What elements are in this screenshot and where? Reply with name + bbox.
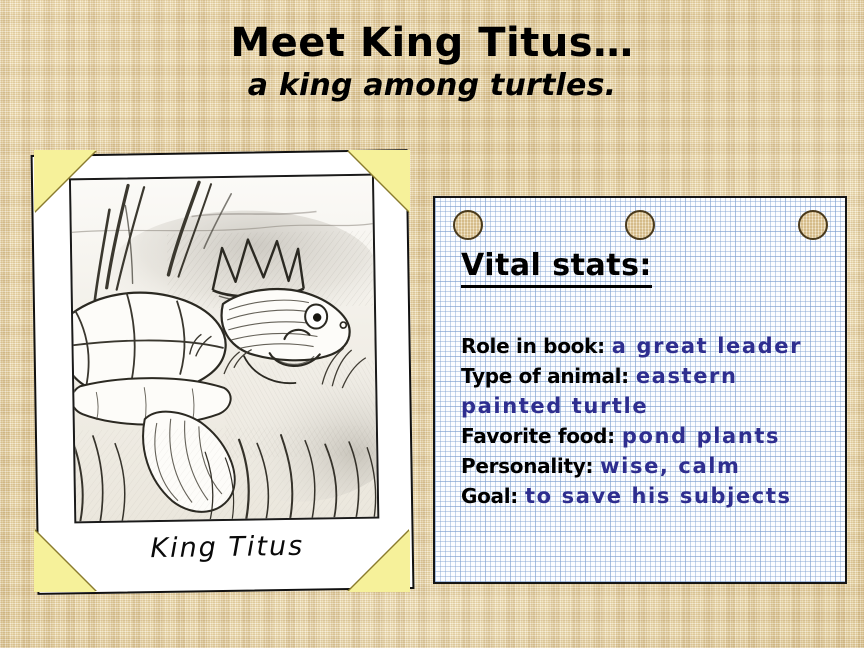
stat-value-goal: to save his subjects (525, 484, 792, 508)
stat-label-role: Role in book: (461, 334, 605, 358)
photo-corner-bottom-right (348, 530, 410, 592)
stat-row-goal: Goal:to save his subjects (461, 482, 841, 512)
photo-corner-bottom-left (34, 530, 96, 592)
turtle-king-sketch-icon (71, 176, 377, 522)
punch-hole-center (625, 210, 655, 240)
photo-corner-top-right (348, 150, 410, 212)
punch-hole-left (453, 210, 483, 240)
stat-label-personality: Personality: (461, 454, 593, 478)
photo-corner-top-left (34, 150, 96, 212)
photo-card: King Titus (31, 149, 415, 595)
stat-row-personality: Personality:wise, calm (461, 452, 841, 482)
punch-hole-right (798, 210, 828, 240)
stat-value-favorite-food: pond plants (622, 424, 780, 448)
stat-row-role: Role in book:a great leader (461, 332, 841, 362)
page-title: Meet King Titus… (0, 22, 864, 64)
stat-label-goal: Goal: (461, 484, 518, 508)
stat-row-animal-type: Type of animal:eastern painted turtle (461, 362, 841, 422)
vital-stats-heading: Vital stats: (461, 250, 652, 288)
stat-value-role: a great leader (612, 334, 802, 358)
stat-row-favorite-food: Favorite food:pond plants (461, 422, 841, 452)
title-block: Meet King Titus… a king among turtles. (0, 22, 864, 104)
page-subtitle: a king among turtles. (0, 68, 864, 104)
stat-label-favorite-food: Favorite food: (461, 424, 615, 448)
slide-canvas: Meet King Titus… a king among turtles. (0, 0, 864, 648)
stat-label-animal-type: Type of animal: (461, 364, 629, 388)
vital-stats-list: Role in book:a great leader Type of anim… (461, 332, 841, 512)
photo-image-frame (69, 174, 379, 524)
vital-stats-note-panel: Vital stats: Role in book:a great leader… (433, 196, 847, 584)
stat-value-personality: wise, calm (600, 454, 740, 478)
